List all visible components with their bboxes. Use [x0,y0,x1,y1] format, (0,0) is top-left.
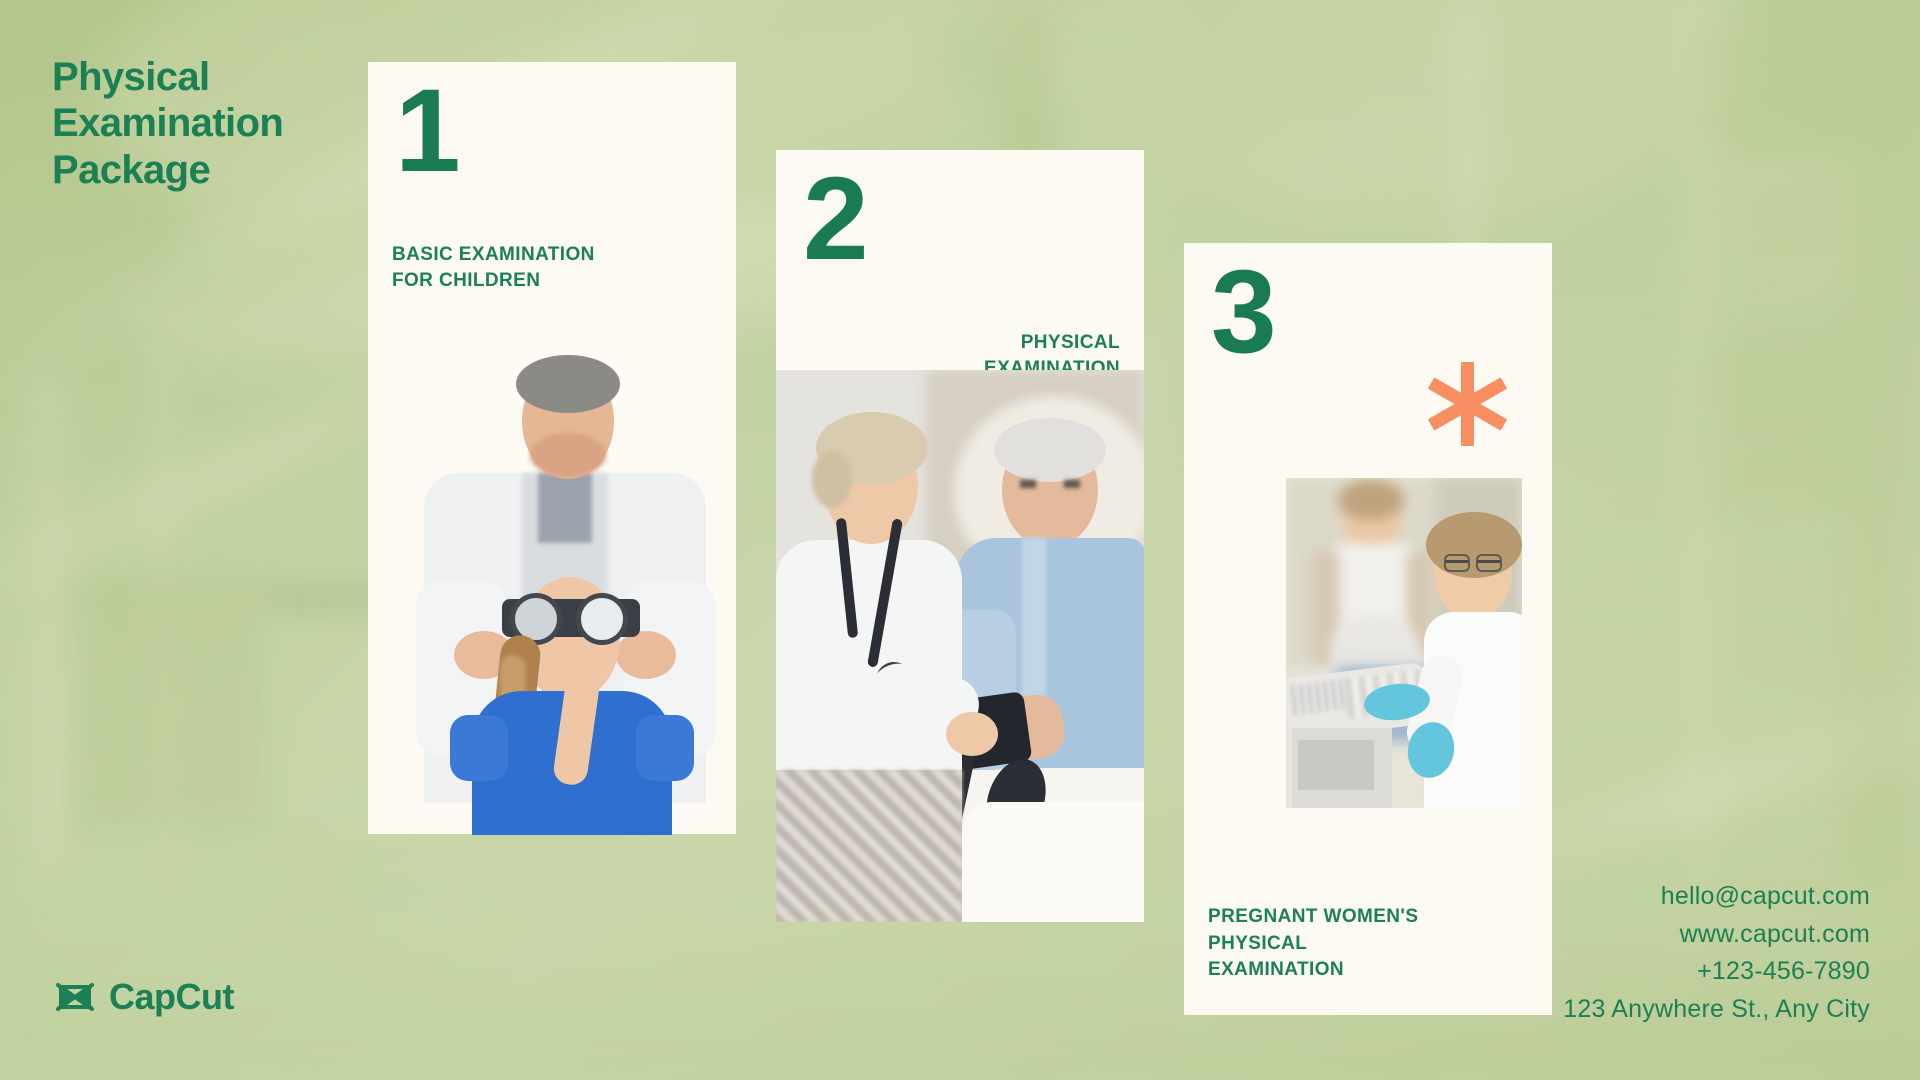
card-number-1: 1 [395,84,458,178]
poster-canvas: Physical Examination Package 1 BASIC EXA… [0,0,1920,1080]
card-3-photo [1286,478,1522,808]
card-heading-3: PREGNANT WOMEN'S PHYSICAL EXAMINATION [1208,904,1418,983]
card-number-3: 3 [1211,265,1274,359]
contact-phone[interactable]: +123-456-7890 [1563,953,1870,991]
contact-website[interactable]: www.capcut.com [1563,916,1870,954]
contact-block: hello@capcut.com www.capcut.com +123-456… [1563,878,1870,1028]
contact-address: 123 Anywhere St., Any City [1563,991,1870,1029]
page-title: Physical Examination Package [52,54,382,193]
capcut-bowtie-icon [54,980,96,1014]
card-2-photo [776,370,1144,922]
capcut-logo-text: CapCut [109,976,234,1018]
capcut-logo[interactable]: CapCut [54,976,234,1018]
card-heading-1: BASIC EXAMINATION FOR CHILDREN [392,242,595,294]
asterisk-icon [1424,361,1510,447]
card-1-photo [410,355,720,835]
contact-email[interactable]: hello@capcut.com [1563,878,1870,916]
card-number-2: 2 [803,172,866,266]
